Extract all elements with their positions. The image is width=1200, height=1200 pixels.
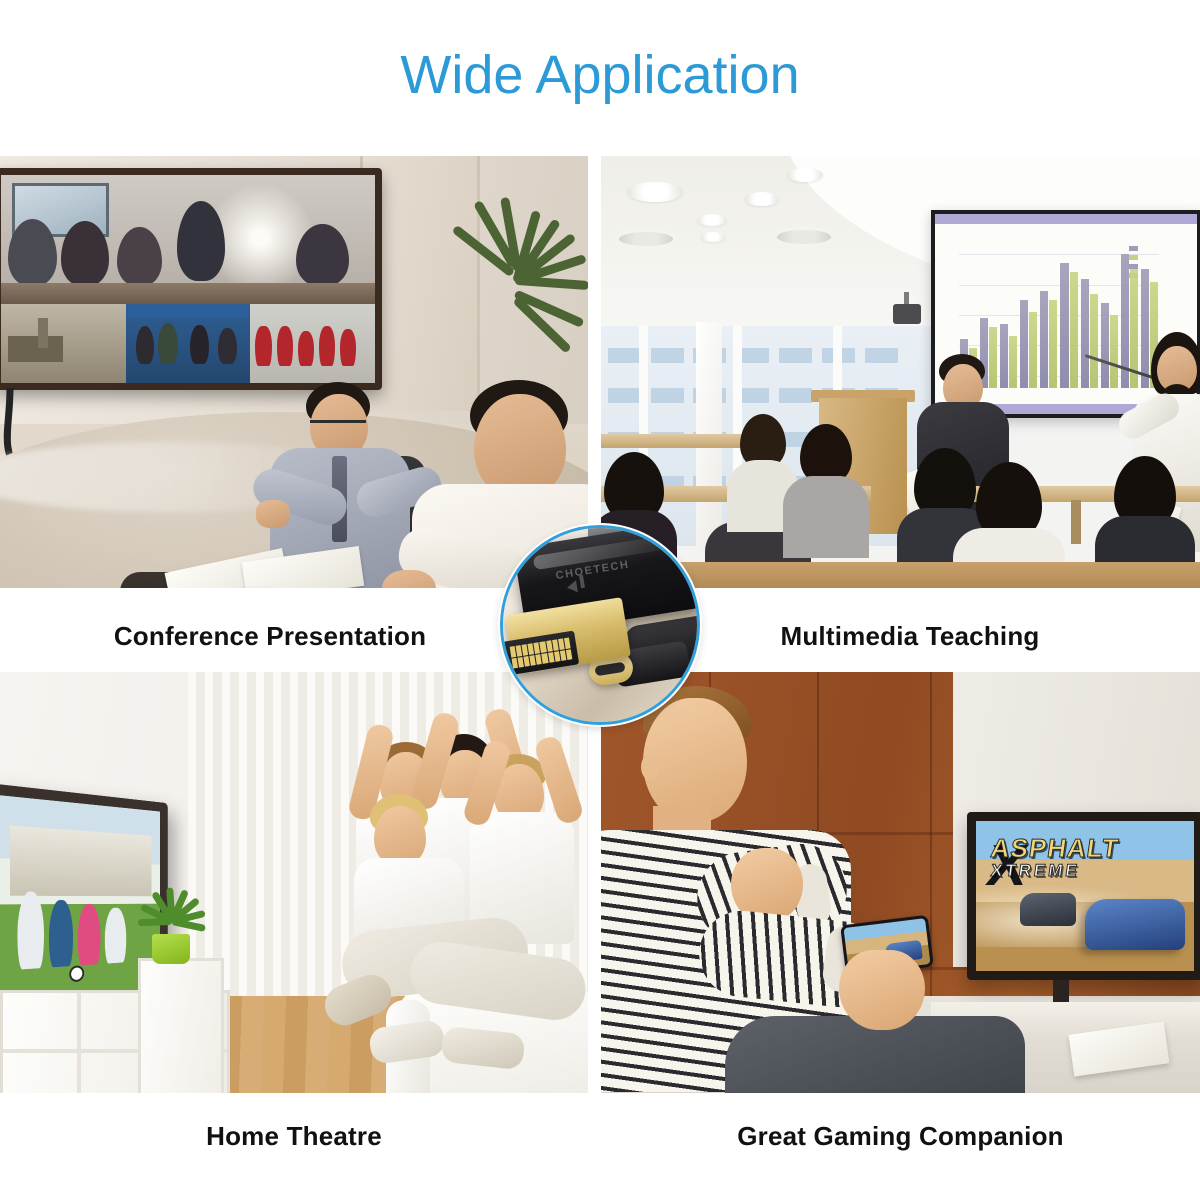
ceiling-light-icon bbox=[787, 168, 823, 182]
caption-conference-presentation: Conference Presentation bbox=[0, 621, 540, 652]
gaming-scene: X ASPHALT XTREME bbox=[601, 672, 1200, 1093]
tv-screen-content bbox=[0, 795, 160, 1005]
gamer bbox=[601, 698, 981, 1093]
green-flower-pot bbox=[152, 934, 190, 964]
classroom-scene bbox=[601, 156, 1200, 588]
panel-home-theatre bbox=[0, 672, 588, 1093]
video-feed-ship bbox=[1, 304, 126, 383]
wall-mounted-television bbox=[0, 168, 382, 390]
game-screen-content: X ASPHALT XTREME bbox=[976, 821, 1194, 971]
rival-car bbox=[1020, 893, 1077, 926]
video-feed-signing bbox=[126, 304, 251, 383]
gamer-hand-holding-phone bbox=[839, 950, 925, 1030]
ceiling-vent-icon bbox=[615, 228, 677, 250]
ceiling-projector bbox=[893, 304, 921, 324]
panel-great-gaming-companion: X ASPHALT XTREME bbox=[601, 672, 1200, 1093]
ceiling-light-icon bbox=[697, 214, 727, 226]
caption-multimedia-teaching: Multimedia Teaching bbox=[640, 621, 1180, 652]
potted-plant bbox=[455, 156, 585, 406]
gamer-ear bbox=[641, 754, 659, 780]
caption-great-gaming-companion: Great Gaming Companion bbox=[601, 1121, 1200, 1152]
caption-home-theatre: Home Theatre bbox=[0, 1121, 588, 1152]
panel-conference-presentation bbox=[0, 156, 588, 588]
direction-arrow-icon bbox=[566, 580, 578, 593]
video-feed-main bbox=[1, 175, 375, 304]
video-feed-red-team bbox=[250, 304, 375, 383]
page-title: Wide Application bbox=[0, 44, 1200, 106]
living-room-scene bbox=[0, 672, 588, 1093]
ceiling-light-icon bbox=[745, 192, 779, 206]
product-badge: CHOETECH bbox=[500, 525, 700, 725]
panel-multimedia-teaching bbox=[601, 156, 1200, 588]
white-cabinet bbox=[138, 958, 224, 1093]
marketing-image: Wide Application bbox=[0, 0, 1200, 1200]
game-title-line2: XTREME bbox=[990, 862, 1132, 879]
game-logo: X ASPHALT XTREME bbox=[991, 836, 1131, 879]
game-title-line1: ASPHALT bbox=[990, 836, 1133, 860]
ceiling-vent-icon bbox=[773, 226, 835, 248]
audience-member bbox=[783, 424, 869, 548]
chart-legend bbox=[1129, 246, 1155, 282]
television: X ASPHALT XTREME bbox=[967, 812, 1200, 980]
cheering-family bbox=[318, 734, 588, 1086]
ceiling-light-icon bbox=[627, 182, 683, 202]
conference-scene bbox=[0, 156, 588, 588]
gamer-clenched-fist bbox=[731, 848, 803, 920]
ceiling-light-icon bbox=[701, 232, 725, 242]
hero-car bbox=[1085, 899, 1185, 950]
